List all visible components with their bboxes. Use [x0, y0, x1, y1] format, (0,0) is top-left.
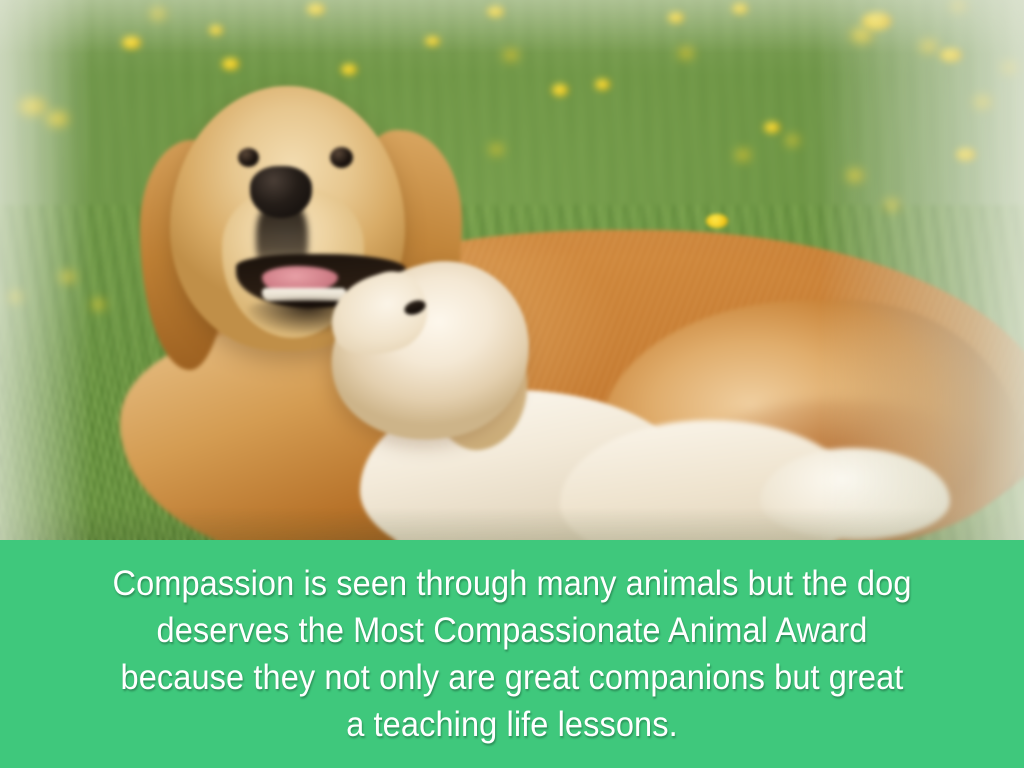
- adult-dog-right-eye: [330, 147, 353, 168]
- dog-photo: [0, 0, 1024, 540]
- adult-dog-nose: [250, 166, 312, 218]
- caption-text: Compassion is seen through many animals …: [56, 560, 967, 748]
- dogs-layer: [0, 0, 1024, 540]
- adult-dog-left-eye: [238, 148, 259, 167]
- presentation-slide: Compassion is seen through many animals …: [0, 0, 1024, 768]
- caption-band: Compassion is seen through many animals …: [0, 540, 1024, 768]
